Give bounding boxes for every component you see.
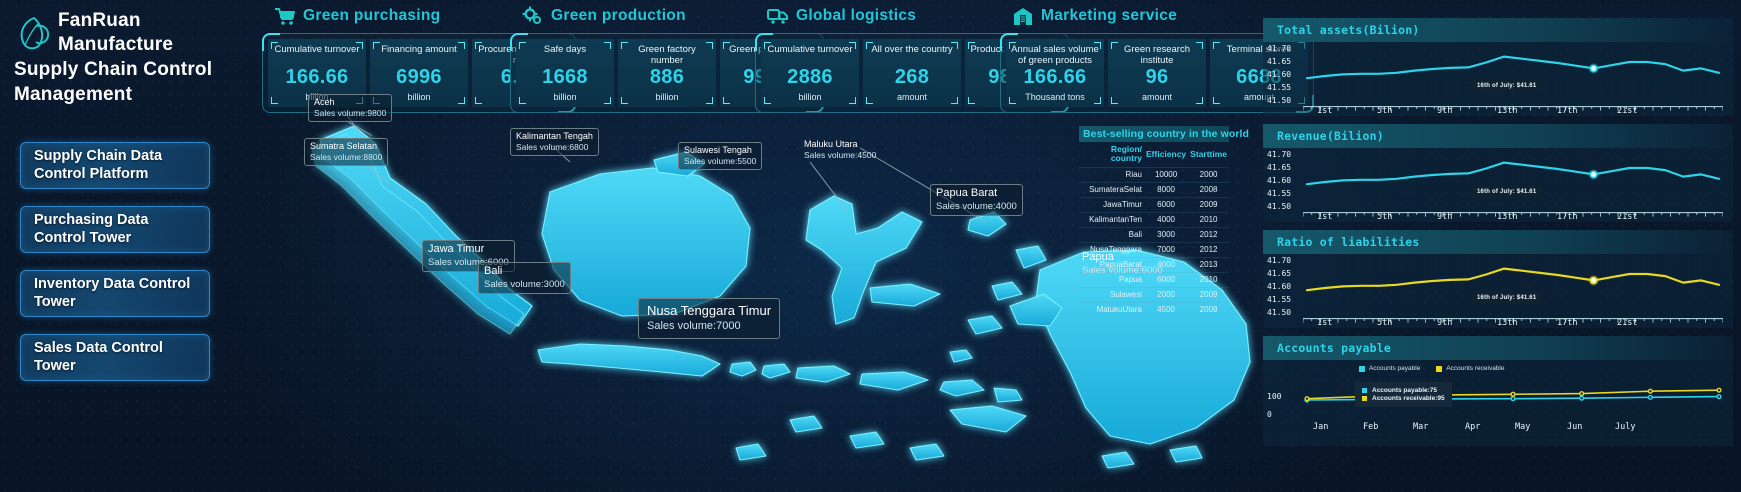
- cell-efficiency: 2000: [1144, 287, 1188, 302]
- y-tick: 41.60: [1267, 70, 1291, 79]
- sidebar-item-purchasing-data-control-tower[interactable]: Purchasing Data Control Tower: [20, 206, 210, 253]
- x-tick: Mar: [1413, 422, 1428, 432]
- table-row[interactable]: PapuaBarat40002013: [1079, 257, 1229, 272]
- kpi-label: Cumulative turnover: [271, 44, 363, 66]
- chart-plot-area: 41.70 41.65 41.60 41.55 41.50 1st 5th 9t…: [1263, 254, 1733, 328]
- x-tick: 13th: [1497, 106, 1517, 116]
- table-row[interactable]: Riau100002000: [1079, 167, 1229, 182]
- y-tick: 41.70: [1267, 256, 1291, 265]
- x-tick: 5th: [1377, 212, 1392, 222]
- x-tick: 17th: [1557, 106, 1577, 116]
- y-tick: 100: [1267, 392, 1281, 401]
- chart-revenue[interactable]: Revenue(Bilion) 41.70 41.65 41.60 41.55 …: [1263, 124, 1733, 222]
- cell-region: MalukuUtara: [1079, 302, 1144, 317]
- kpi-group-title: Green production: [551, 7, 686, 25]
- table-row[interactable]: KalimantanTen40002010: [1079, 212, 1229, 227]
- table-row[interactable]: NusaTenggara70002012: [1079, 242, 1229, 257]
- kpi-value: 166.66: [1024, 67, 1087, 87]
- table-header-row: Region/ country Efficiency Starttime: [1079, 142, 1229, 167]
- y-tick: 41.65: [1267, 269, 1291, 278]
- x-tick: 17th: [1557, 212, 1577, 222]
- x-tick: July: [1615, 422, 1635, 432]
- sidebar-item-label: Purchasing Data Control Tower: [34, 212, 199, 247]
- kpi-value: 6996: [396, 67, 442, 87]
- cell-region: Bali: [1079, 227, 1144, 242]
- line-series: [1303, 46, 1723, 106]
- charts-column: Total assets(Bilion) 41.70 41.65 41.60 4…: [1263, 18, 1733, 454]
- sidebar-nav: Supply Chain Data Control Platform Purch…: [20, 142, 210, 398]
- kpi-card[interactable]: Cumulative turnover 2886 billion: [761, 39, 859, 107]
- kpi-card[interactable]: Cumulative turnover 166.66 billion: [268, 39, 366, 107]
- chart-title: Total assets(Bilion): [1277, 23, 1419, 37]
- cell-starttime: 2009: [1188, 287, 1229, 302]
- chart-tooltip: 16th of July: $41.61: [1471, 186, 1542, 198]
- chart-tooltip: 16th of July: $41.61: [1471, 292, 1542, 304]
- x-tick: 5th: [1377, 318, 1392, 328]
- x-tick: 13th: [1497, 212, 1517, 222]
- cart-icon: [274, 6, 296, 27]
- cell-starttime: 2012: [1188, 242, 1229, 257]
- x-tick: 17th: [1557, 318, 1577, 328]
- cell-efficiency: 3000: [1144, 227, 1188, 242]
- chart-title: Accounts payable: [1277, 341, 1391, 355]
- kpi-group-title: Green purchasing: [303, 7, 440, 25]
- legend-item-accounts-receivable[interactable]: Accounts receivable: [1436, 365, 1504, 372]
- sidebar-item-supply-chain-data-control-platform[interactable]: Supply Chain Data Control Platform: [20, 142, 210, 189]
- kpi-label: Safe days: [519, 44, 611, 66]
- cell-region: Papua: [1079, 272, 1144, 287]
- table-row[interactable]: JawaTimur60002009: [1079, 197, 1229, 212]
- kpi-value: 2886: [787, 67, 833, 87]
- y-tick: 41.55: [1267, 295, 1291, 304]
- kpi-value: 886: [650, 67, 684, 87]
- y-tick: 41.50: [1267, 308, 1291, 317]
- chart-plot-area: 41.70 41.65 41.60 41.55 41.50 1st 5th 9t…: [1263, 42, 1733, 116]
- chart-plot-area: Accounts payable Accounts receivable 100…: [1263, 360, 1733, 446]
- x-tick: Feb: [1363, 422, 1378, 432]
- table-row[interactable]: SumateraSelat80002008: [1079, 182, 1229, 197]
- x-tick: 5th: [1377, 106, 1392, 116]
- gears-icon: [522, 6, 544, 27]
- cell-region: KalimantanTen: [1079, 212, 1144, 227]
- x-tick: Apr: [1465, 422, 1480, 432]
- x-tick: 21st: [1617, 318, 1637, 328]
- truck-icon: [767, 6, 789, 27]
- best-selling-title: Best-selling country in the world: [1079, 126, 1229, 142]
- line-series: [1303, 152, 1723, 212]
- cell-efficiency: 8000: [1144, 182, 1188, 197]
- x-tick: Jan: [1313, 422, 1328, 432]
- y-tick: 41.55: [1267, 189, 1291, 198]
- kpi-card[interactable]: Financing amount 6996 billion: [370, 39, 468, 107]
- tooltip-row: Accounts payable:75: [1372, 387, 1437, 394]
- legend-swatch: [1359, 366, 1365, 372]
- cell-region: Riau: [1079, 167, 1144, 182]
- cell-efficiency: 10000: [1144, 167, 1188, 182]
- sidebar-item-label: Sales Data Control Tower: [34, 340, 199, 375]
- chart-legend: Accounts payable Accounts receivable: [1359, 365, 1504, 372]
- tooltip-row: Accounts receivable:95: [1372, 395, 1445, 402]
- x-tick: 13th: [1497, 318, 1517, 328]
- cell-region: SumateraSelat: [1079, 182, 1144, 197]
- column-header-starttime: Starttime: [1188, 142, 1229, 167]
- kpi-group-title: Global logistics: [796, 7, 916, 25]
- sidebar-item-inventory-data-control-tower[interactable]: Inventory Data Control Tower: [20, 270, 210, 317]
- x-tick: 9th: [1437, 318, 1452, 328]
- cell-efficiency: 6000: [1144, 272, 1188, 287]
- kpi-label: Financing amount: [373, 44, 465, 66]
- y-tick: 41.70: [1267, 44, 1291, 53]
- dashboard-root: FanRuan Manufacture Supply Chain Control…: [0, 0, 1741, 492]
- page-title-line1: Supply Chain Control: [14, 59, 246, 82]
- kpi-label: All over the country: [866, 44, 958, 66]
- best-selling-panel: Best-selling country in the world Region…: [1079, 126, 1229, 317]
- x-tick: 1st: [1317, 318, 1332, 328]
- cell-starttime: 2009: [1188, 197, 1229, 212]
- x-tick: 21st: [1617, 106, 1637, 116]
- x-tick: Jun: [1567, 422, 1582, 432]
- kpi-value: 96: [1146, 67, 1169, 87]
- cell-efficiency: 6000: [1144, 197, 1188, 212]
- warehouse-icon: [1012, 6, 1034, 27]
- brand-header: FanRuan Manufacture Supply Chain Control…: [14, 8, 246, 106]
- cell-efficiency: 7000: [1144, 242, 1188, 257]
- cell-region: Sulawesi: [1079, 287, 1144, 302]
- chart-total-assets[interactable]: Total assets(Bilion) 41.70 41.65 41.60 4…: [1263, 18, 1733, 116]
- y-tick: 41.60: [1267, 176, 1291, 185]
- cell-starttime: 2013: [1188, 257, 1229, 272]
- cell-region: NusaTenggara: [1079, 242, 1144, 257]
- cell-starttime: 2009: [1188, 302, 1229, 317]
- y-tick: 41.65: [1267, 57, 1291, 66]
- cell-efficiency: 4000: [1144, 257, 1188, 272]
- line-series: [1303, 258, 1723, 318]
- column-header-region: Region/ country: [1079, 142, 1144, 167]
- kpi-label: Cumulative turnover: [764, 44, 856, 66]
- kpi-label: Annual sales volume of green products: [1009, 44, 1101, 66]
- kpi-card[interactable]: Safe days 1668 billion: [516, 39, 614, 107]
- chart-title: Revenue(Bilion): [1277, 129, 1384, 143]
- kpi-group-title: Marketing service: [1041, 7, 1177, 25]
- leaf-icon: [14, 12, 52, 54]
- column-header-efficiency: Efficiency: [1144, 142, 1188, 167]
- y-tick: 41.60: [1267, 282, 1291, 291]
- kpi-card[interactable]: Green research institute 96 amount: [1108, 39, 1206, 107]
- kpi-card[interactable]: All over the country 268 amount: [863, 39, 961, 107]
- cell-efficiency: 4500: [1144, 302, 1188, 317]
- chart-accounts-payable[interactable]: Accounts payable Accounts payable Accoun…: [1263, 336, 1733, 446]
- kpi-label: Green factory number: [621, 44, 713, 66]
- chart-ratio-of-liabilities[interactable]: Ratio of liabilities 41.70 41.65 41.60 4…: [1263, 230, 1733, 328]
- table-row[interactable]: Sulawesi20002009: [1079, 287, 1229, 302]
- kpi-value: 268: [895, 67, 929, 87]
- page-title-line2: Management: [14, 84, 246, 107]
- table-row[interactable]: MalukuUtara45002009: [1079, 302, 1229, 317]
- chart-tooltip: Accounts payable:75 Accounts receivable:…: [1355, 382, 1452, 407]
- cell-starttime: 2010: [1188, 272, 1229, 287]
- x-tick: May: [1515, 422, 1530, 432]
- brand-division: Manufacture: [58, 32, 173, 56]
- chart-plot-area: 41.70 41.65 41.60 41.55 41.50 1st 5th 9t…: [1263, 148, 1733, 222]
- chart-tooltip: 16th of July: $41.61: [1471, 80, 1542, 92]
- sidebar-item-sales-data-control-tower[interactable]: Sales Data Control Tower: [20, 334, 210, 381]
- kpi-card[interactable]: Green factory number 886 billion: [618, 39, 716, 107]
- kpi-card[interactable]: Annual sales volume of green products 16…: [1006, 39, 1104, 107]
- cell-starttime: 2012: [1188, 227, 1229, 242]
- table-row[interactable]: Papua60002010: [1079, 272, 1229, 287]
- kpi-value: 1668: [542, 67, 588, 87]
- legend-swatch: [1436, 366, 1442, 372]
- y-tick: 41.50: [1267, 96, 1291, 105]
- y-tick: 41.55: [1267, 83, 1291, 92]
- kpi-value: 166.66: [286, 67, 349, 87]
- best-selling-table-body: Riau100002000 SumateraSelat80002008 Jawa…: [1079, 167, 1229, 317]
- x-tick: 9th: [1437, 212, 1452, 222]
- legend-item-accounts-payable[interactable]: Accounts payable: [1359, 365, 1420, 372]
- x-tick: 1st: [1317, 212, 1332, 222]
- y-tick: 41.50: [1267, 202, 1291, 211]
- x-tick: 21st: [1617, 212, 1637, 222]
- best-selling-table[interactable]: Region/ country Efficiency Starttime Ria…: [1079, 142, 1229, 317]
- sidebar-item-label: Inventory Data Control Tower: [34, 276, 199, 311]
- cell-starttime: 2008: [1188, 182, 1229, 197]
- x-tick: 1st: [1317, 106, 1332, 116]
- y-tick: 41.70: [1267, 150, 1291, 159]
- chart-title: Ratio of liabilities: [1277, 235, 1419, 249]
- cell-region: JawaTimur: [1079, 197, 1144, 212]
- legend-label: Accounts payable: [1369, 365, 1420, 372]
- cell-starttime: 2010: [1188, 212, 1229, 227]
- y-tick: 0: [1267, 410, 1272, 419]
- legend-label: Accounts receivable: [1446, 365, 1504, 372]
- cell-starttime: 2000: [1188, 167, 1229, 182]
- y-tick: 41.65: [1267, 163, 1291, 172]
- cell-region: PapuaBarat: [1079, 257, 1144, 272]
- sidebar-item-label: Supply Chain Data Control Platform: [34, 148, 199, 183]
- brand-company: FanRuan: [58, 8, 173, 32]
- table-row[interactable]: Bali30002012: [1079, 227, 1229, 242]
- cell-efficiency: 4000: [1144, 212, 1188, 227]
- x-tick: 9th: [1437, 106, 1452, 116]
- kpi-label: Green research institute: [1111, 44, 1203, 66]
